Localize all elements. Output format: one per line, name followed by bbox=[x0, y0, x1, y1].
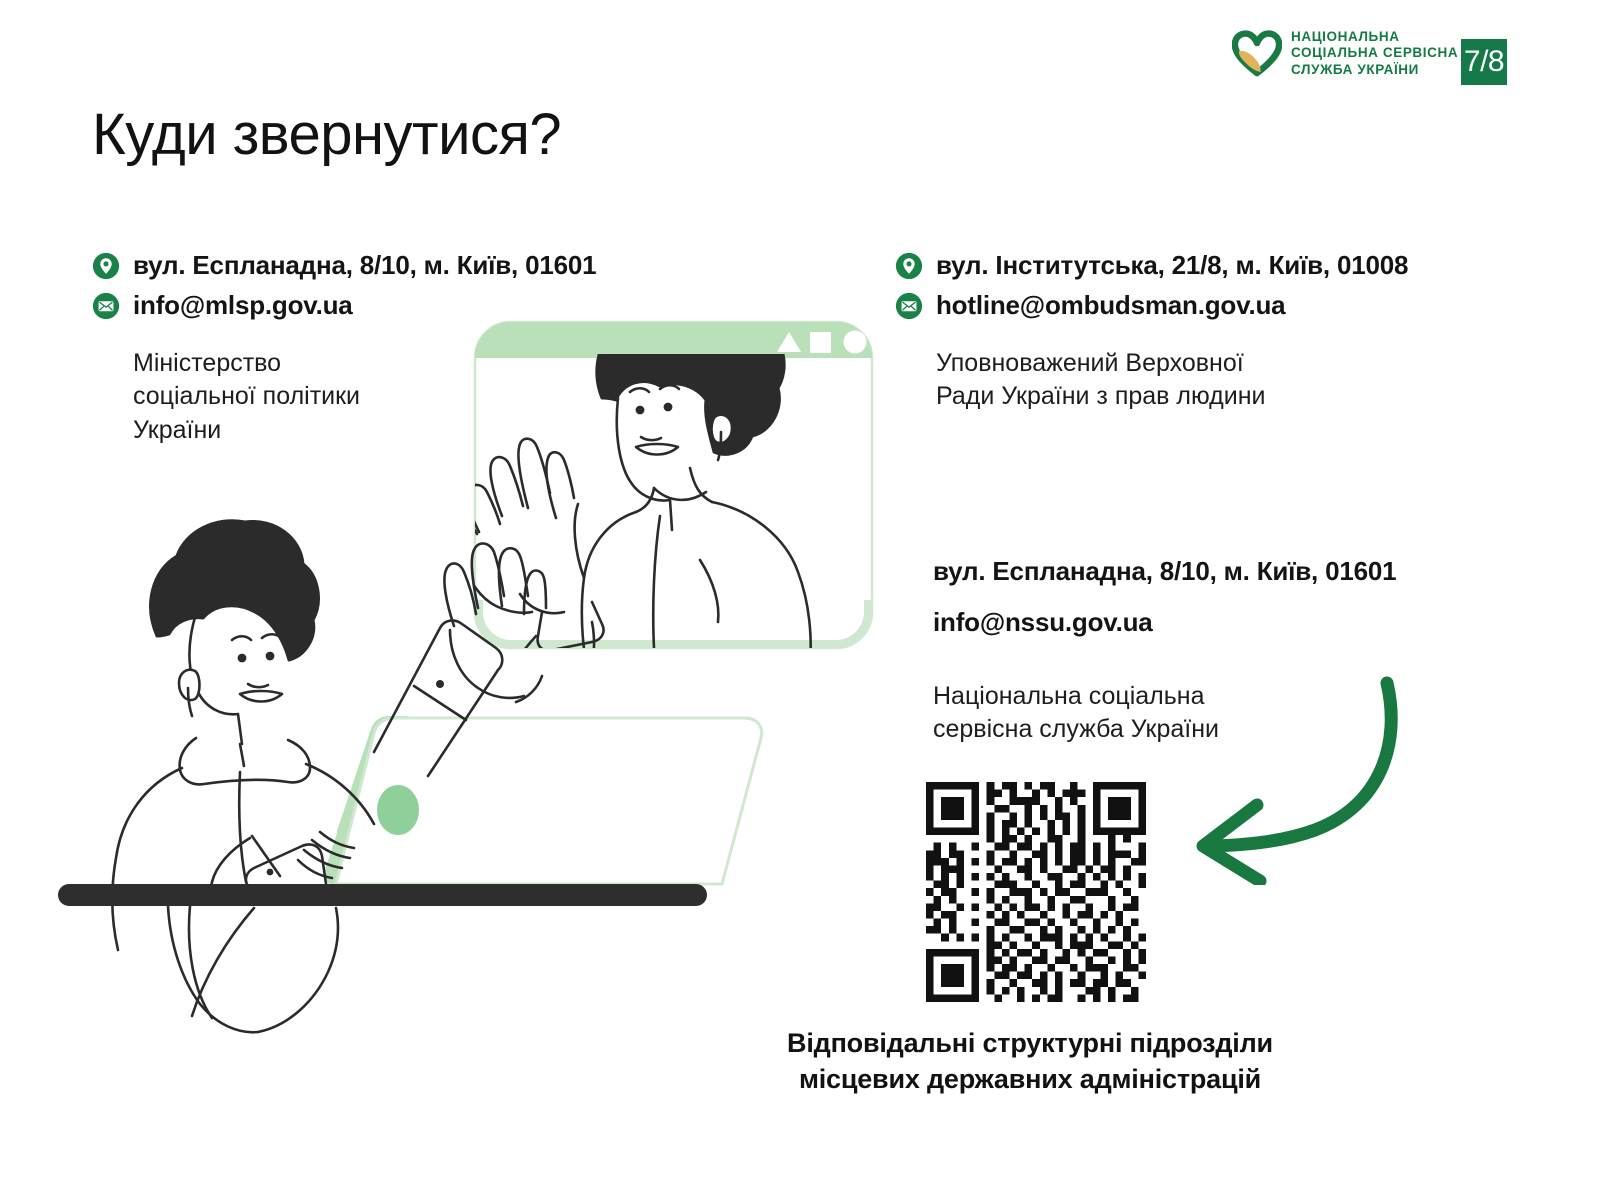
contact-email-row[interactable]: hotline@ombudsman.gov.ua bbox=[895, 290, 1408, 321]
curved-arrow-icon bbox=[1175, 665, 1405, 885]
brand-line-2: СОЦІАЛЬНА СЕРВІСНА bbox=[1291, 45, 1458, 60]
contact-organisation-name: Уповноважений Верховної Ради України з п… bbox=[936, 347, 1408, 414]
contact-block-ombudsman: вул. Інститутська, 21/8, м. Київ, 01008 … bbox=[895, 250, 1408, 414]
qr-code[interactable] bbox=[922, 782, 1150, 1002]
heart-hand-logo-icon bbox=[1232, 28, 1282, 78]
contact-organisation-name: Міністерство соціальної політики України bbox=[133, 347, 596, 447]
contact-address-text: вул. Еспланадна, 8/10, м. Київ, 01601 bbox=[133, 250, 596, 281]
contact-block-mlsp: вул. Еспланадна, 8/10, м. Київ, 01601 in… bbox=[92, 250, 596, 447]
contact-address-row: вул. Еспланадна, 8/10, м. Київ, 01601 bbox=[92, 250, 596, 281]
envelope-icon bbox=[92, 292, 120, 320]
brand-line-3: СЛУЖБА УКРАЇНИ bbox=[1291, 62, 1458, 77]
contact-address-row: вул. Інститутська, 21/8, м. Київ, 01008 bbox=[895, 250, 1408, 281]
triangle-control-icon bbox=[777, 332, 801, 352]
person-at-laptop bbox=[58, 521, 762, 1033]
contact-email-text[interactable]: info@mlsp.gov.ua bbox=[133, 290, 353, 321]
page-title: Куди звернутися? bbox=[92, 101, 561, 168]
contact-address-text: вул. Еспланадна, 8/10, м. Київ, 01601 bbox=[933, 556, 1396, 587]
brand-wordmark: НАЦІОНАЛЬНА СОЦІАЛЬНА СЕРВІСНА СЛУЖБА УК… bbox=[1291, 29, 1458, 77]
desk-bar bbox=[58, 884, 707, 906]
contact-email-text[interactable]: info@nssu.gov.ua bbox=[933, 607, 1396, 638]
location-pin-icon bbox=[92, 252, 120, 280]
window-controls bbox=[777, 331, 867, 354]
page-number-badge: 7/8 bbox=[1461, 39, 1507, 85]
brand-line-1: НАЦІОНАЛЬНА bbox=[1291, 29, 1458, 44]
slide-root: НАЦІОНАЛЬНА СОЦІАЛЬНА СЕРВІСНА СЛУЖБА УК… bbox=[0, 0, 1600, 1200]
circle-control-icon bbox=[844, 331, 867, 354]
location-pin-icon bbox=[895, 252, 923, 280]
brand-logo: НАЦІОНАЛЬНА СОЦІАЛЬНА СЕРВІСНА СЛУЖБА УК… bbox=[1232, 28, 1458, 78]
contact-address-text: вул. Інститутська, 21/8, м. Київ, 01008 bbox=[936, 250, 1408, 281]
contact-email-row[interactable]: info@mlsp.gov.ua bbox=[92, 290, 596, 321]
contact-email-text[interactable]: hotline@ombudsman.gov.ua bbox=[936, 290, 1285, 321]
envelope-icon bbox=[895, 292, 923, 320]
bottom-caption: Відповідальні структурні підрозділи місц… bbox=[700, 1026, 1360, 1097]
square-control-icon bbox=[810, 332, 831, 353]
